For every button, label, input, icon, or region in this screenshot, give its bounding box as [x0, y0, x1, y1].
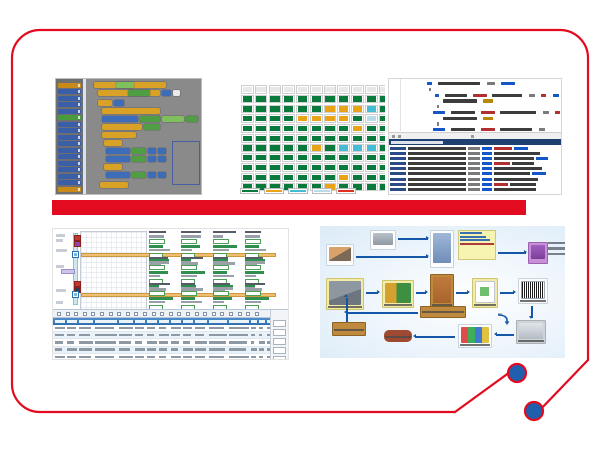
- status-cell-r9-c3[interactable]: [282, 173, 295, 182]
- table-column-header-15[interactable]: [259, 320, 265, 323]
- block-group-1-header[interactable]: [104, 140, 122, 146]
- schedule-marker-2[interactable]: [74, 241, 81, 247]
- status-cell-r8-c10[interactable]: [379, 163, 385, 172]
- status-cell-r2-c3[interactable]: [282, 105, 295, 114]
- table-side-button-3[interactable]: [273, 338, 286, 345]
- block-logic-1[interactable]: [162, 116, 184, 122]
- status-cell-r9-c2[interactable]: [269, 173, 282, 182]
- log-token: [468, 172, 480, 175]
- status-cell-r3-c5[interactable]: [310, 114, 323, 123]
- log-row-7[interactable]: [390, 178, 561, 181]
- status-cell-r4-c1[interactable]: [255, 124, 268, 133]
- block-footer[interactable]: [100, 182, 128, 188]
- status-cell-fill: [256, 106, 265, 111]
- status-cell-fill: [298, 126, 307, 131]
- status-cell-r3-c9[interactable]: [365, 114, 378, 123]
- status-cell-r9-c9[interactable]: [365, 173, 378, 182]
- status-cell-r7-c6[interactable]: [324, 153, 337, 162]
- table-cell: [55, 348, 62, 351]
- table-row[interactable]: [53, 325, 288, 332]
- status-cell-fill: [256, 175, 265, 180]
- schedule-tag-1[interactable]: [61, 269, 75, 274]
- status-cell-r7-c5[interactable]: [310, 153, 323, 162]
- schedule-node-2[interactable]: [72, 291, 79, 298]
- status-cell-r5-c6[interactable]: [324, 134, 337, 143]
- log-row-2[interactable]: [390, 152, 561, 155]
- block-value-6[interactable]: [158, 172, 166, 178]
- status-cell-r7-c10[interactable]: [379, 153, 385, 162]
- status-cell-r8-c9[interactable]: [365, 163, 378, 172]
- status-cell-r3-c7[interactable]: [337, 114, 350, 123]
- table-toolbar-button-12[interactable]: [152, 312, 156, 316]
- status-cell-r1-c1[interactable]: [255, 95, 268, 104]
- status-cell-r0-c0[interactable]: [241, 85, 254, 94]
- data-table-sidebar[interactable]: [270, 310, 288, 359]
- table-column-header-8[interactable]: [159, 320, 169, 323]
- block-statement-4[interactable]: [102, 132, 136, 138]
- flow-node-unloading[interactable]: [382, 280, 414, 308]
- block-getter-2[interactable]: [186, 116, 198, 122]
- status-cell-r6-c5[interactable]: [310, 144, 323, 153]
- code-line-3[interactable]: [393, 94, 559, 97]
- status-grid-panel[interactable]: [240, 84, 385, 194]
- log-token: [482, 147, 492, 150]
- status-cell-r1-c5[interactable]: [310, 95, 323, 104]
- block-value-1[interactable]: [148, 148, 156, 154]
- log-token: [408, 167, 466, 170]
- flow-node-nonconforming-zone[interactable]: [420, 306, 466, 318]
- table-cell: [159, 341, 168, 344]
- table-toolbar-button-13[interactable]: [160, 312, 164, 316]
- palette-block-15[interactable]: [58, 174, 81, 179]
- table-side-button-1[interactable]: [273, 320, 286, 327]
- flow-node-operator[interactable]: [326, 244, 354, 266]
- block-call-1-value[interactable]: [162, 90, 171, 96]
- table-toolbar-button-2[interactable]: [66, 312, 70, 316]
- palette-block-17[interactable]: [58, 187, 81, 192]
- palette-block-14[interactable]: [58, 167, 81, 172]
- code-line-5[interactable]: [393, 105, 559, 108]
- palette-block-11[interactable]: [58, 148, 81, 153]
- table-row[interactable]: [53, 354, 288, 360]
- status-cell-r8-c0[interactable]: [241, 163, 254, 172]
- status-cell-r8-c4[interactable]: [296, 163, 309, 172]
- log-token: [408, 172, 466, 175]
- status-cell-r0-c8[interactable]: [351, 85, 364, 94]
- table-column-header-9[interactable]: [171, 320, 181, 323]
- table-side-button-2[interactable]: [273, 329, 286, 336]
- status-cell-r7-c7[interactable]: [337, 153, 350, 162]
- palette-block-2[interactable]: [58, 89, 81, 94]
- log-row-8[interactable]: [390, 183, 561, 186]
- status-cell-fill: [380, 155, 385, 160]
- status-cell-r0-c3[interactable]: [282, 85, 295, 94]
- log-token: [390, 162, 406, 165]
- status-cell-r7-c2[interactable]: [269, 153, 282, 162]
- status-cell-r6-c1[interactable]: [255, 144, 268, 153]
- status-cell-r4-c7[interactable]: [337, 124, 350, 133]
- log-output-list[interactable]: [389, 146, 561, 194]
- table-column-header-14[interactable]: [251, 320, 257, 323]
- status-cell-r9-c1[interactable]: [255, 173, 268, 182]
- log-row-6[interactable]: [390, 172, 561, 175]
- table-toolbar-button-18[interactable]: [203, 312, 207, 316]
- status-cell-r1-c9[interactable]: [365, 95, 378, 104]
- status-cell-r2-c8[interactable]: [351, 105, 364, 114]
- status-cell-r0-c5[interactable]: [310, 85, 323, 94]
- block-call-1-text[interactable]: [173, 90, 180, 96]
- status-cell-r6-c9[interactable]: [365, 144, 378, 153]
- table-toolbar-button-20[interactable]: [220, 312, 224, 316]
- status-cell-r4-c4[interactable]: [296, 124, 309, 133]
- table-toolbar-button-6[interactable]: [100, 312, 104, 316]
- flow-node-quality-inspection[interactable]: [472, 278, 498, 308]
- status-cell-r4-c0[interactable]: [241, 124, 254, 133]
- table-toolbar-button-4[interactable]: [83, 312, 87, 316]
- status-cell-r4-c9[interactable]: [365, 124, 378, 133]
- status-cell-r3-c6[interactable]: [324, 114, 337, 123]
- toolbar-button-1[interactable]: [392, 135, 395, 138]
- table-toolbar-button-7[interactable]: [109, 312, 113, 316]
- block-value-4[interactable]: [158, 156, 166, 162]
- table-toolbar-button-10[interactable]: [134, 312, 138, 316]
- log-window-header[interactable]: [389, 139, 561, 145]
- status-cell-r5-c0[interactable]: [241, 134, 254, 143]
- data-table[interactable]: [53, 309, 288, 359]
- code-line-2[interactable]: [393, 88, 559, 91]
- status-cell-r9-c5[interactable]: [310, 173, 323, 182]
- status-cell-r1-c4[interactable]: [296, 95, 309, 104]
- table-toolbar-button-11[interactable]: [143, 312, 147, 316]
- status-cell-fill: [380, 184, 385, 189]
- block-getter-5[interactable]: [132, 156, 146, 162]
- status-cell-r0-c2[interactable]: [269, 85, 282, 94]
- status-cell-fill: [312, 136, 321, 141]
- status-cell-r4-c5[interactable]: [310, 124, 323, 133]
- block-call-1-arg[interactable]: [128, 90, 150, 96]
- log-token: [494, 152, 540, 155]
- status-cell-r3-c1[interactable]: [255, 114, 268, 123]
- log-row-5[interactable]: [390, 167, 561, 170]
- status-cell-r5-c3[interactable]: [282, 134, 295, 143]
- status-cell-fill: [312, 87, 321, 92]
- status-cell-r8-c2[interactable]: [269, 163, 282, 172]
- status-cell-r0-c6[interactable]: [324, 85, 337, 94]
- status-cell-r4-c3[interactable]: [282, 124, 295, 133]
- flow-node-label-scan[interactable]: [516, 320, 546, 344]
- status-cell-r5-c1[interactable]: [255, 134, 268, 143]
- status-cell-r9-c8[interactable]: [351, 173, 364, 182]
- table-toolbar-button-14[interactable]: [169, 312, 173, 316]
- status-cell-r5-c7[interactable]: [337, 134, 350, 143]
- note-line-1: [460, 232, 482, 234]
- table-column-header-4[interactable]: [95, 320, 117, 323]
- table-toolbar-button-1[interactable]: [57, 312, 61, 316]
- status-cell-r5-c2[interactable]: [269, 134, 282, 143]
- flow-node-system-terminal[interactable]: [430, 230, 454, 268]
- palette-block-3[interactable]: [58, 96, 81, 101]
- equipment-icon: [373, 233, 393, 245]
- block-group-2-header[interactable]: [104, 164, 122, 170]
- status-cell-r9-c6[interactable]: [324, 173, 337, 182]
- status-cell-r3-c3[interactable]: [282, 114, 295, 123]
- code-line-4[interactable]: [393, 99, 559, 102]
- block-statement-2[interactable]: [102, 108, 160, 114]
- log-row-4[interactable]: [390, 162, 561, 165]
- status-cell-r4-c10[interactable]: [379, 124, 385, 133]
- status-cell-r6-c3[interactable]: [282, 144, 295, 153]
- table-cell: [55, 341, 63, 344]
- status-cell-r8-c7[interactable]: [337, 163, 350, 172]
- status-cell-r7-c8[interactable]: [351, 153, 364, 162]
- log-row-3[interactable]: [390, 157, 561, 160]
- table-toolbar-button-22[interactable]: [238, 312, 242, 316]
- status-cell-fill: [367, 116, 376, 121]
- table-cell: [171, 356, 181, 359]
- table-toolbar-button-17[interactable]: [195, 312, 199, 316]
- log-token: [494, 167, 542, 170]
- status-cell-r9-c4[interactable]: [296, 173, 309, 182]
- table-toolbar-button-5[interactable]: [91, 312, 95, 316]
- table-toolbar-button-24[interactable]: [255, 312, 259, 316]
- status-cell-r4-c8[interactable]: [351, 124, 364, 133]
- table-toolbar-button-23[interactable]: [246, 312, 250, 316]
- palette-block-6[interactable]: [58, 115, 81, 120]
- status-cell-r0-c9[interactable]: [365, 85, 378, 94]
- status-cell-r5-c4[interactable]: [296, 134, 309, 143]
- blocks-editor-panel[interactable]: [55, 78, 202, 195]
- status-cell-r6-c2[interactable]: [269, 144, 282, 153]
- status-cell-r0-c7[interactable]: [337, 85, 350, 94]
- flow-node-nonconforming-store[interactable]: [332, 322, 366, 336]
- flow-side-tag-2: [548, 247, 565, 249]
- block-setter-4[interactable]: [106, 172, 130, 178]
- flow-node-inbound-complete[interactable]: [384, 330, 412, 342]
- status-cell-r3-c8[interactable]: [351, 114, 364, 123]
- status-cell-r6-c6[interactable]: [324, 144, 337, 153]
- toolbar-button-2[interactable]: [398, 135, 401, 138]
- logistics-flowchart-panel[interactable]: NG: [320, 226, 565, 358]
- table-column-header-1[interactable]: [55, 320, 65, 323]
- log-token: [408, 178, 466, 181]
- table-column-header-10[interactable]: [183, 320, 193, 323]
- status-cell-fill: [339, 136, 348, 141]
- blocks-palette[interactable]: [56, 79, 83, 194]
- status-cell-r5-c8[interactable]: [351, 134, 364, 143]
- status-cell-r1-c10[interactable]: [379, 95, 385, 104]
- palette-block-4[interactable]: [58, 102, 81, 107]
- table-side-button-5[interactable]: [273, 356, 286, 360]
- table-side-button-4[interactable]: [273, 347, 286, 354]
- block-control-if[interactable]: [98, 100, 112, 106]
- status-cell-r9-c10[interactable]: [379, 173, 385, 182]
- status-grid[interactable]: [241, 85, 385, 191]
- status-cell-r4-c2[interactable]: [269, 124, 282, 133]
- status-cell-r5-c9[interactable]: [365, 134, 378, 143]
- palette-block-1[interactable]: [58, 83, 81, 88]
- log-token: [468, 152, 480, 155]
- toolbar-button-3[interactable]: [471, 135, 474, 138]
- status-cell-r0-c1[interactable]: [255, 85, 268, 94]
- status-cell-r0-c10[interactable]: [379, 85, 385, 94]
- palette-block-16[interactable]: [58, 180, 81, 185]
- code-line-8[interactable]: [393, 122, 559, 125]
- block-value-5[interactable]: [148, 172, 156, 178]
- flow-node-equipment[interactable]: [370, 230, 396, 250]
- block-getter-6[interactable]: [132, 172, 146, 178]
- status-cell-r5-c10[interactable]: [379, 134, 385, 143]
- palette-block-10[interactable]: [58, 141, 81, 146]
- table-row[interactable]: [53, 347, 288, 354]
- status-cell-r1-c0[interactable]: [241, 95, 254, 104]
- table-toolbar-button-9[interactable]: [126, 312, 130, 316]
- status-cell-r7-c1[interactable]: [255, 153, 268, 162]
- table-toolbar-button-19[interactable]: [212, 312, 216, 316]
- data-table-toolbar[interactable]: [53, 310, 288, 318]
- table-cell: [259, 327, 263, 330]
- status-cell-r6-c7[interactable]: [337, 144, 350, 153]
- status-cell-r6-c10[interactable]: [379, 144, 385, 153]
- textblock-line: [213, 249, 229, 251]
- status-cell-r2-c5[interactable]: [310, 105, 323, 114]
- status-cell-r2-c10[interactable]: [379, 105, 385, 114]
- status-cell-r3-c0[interactable]: [241, 114, 254, 123]
- code-token-if: [435, 94, 439, 97]
- status-cell-r1-c7[interactable]: [337, 95, 350, 104]
- block-getter-4[interactable]: [132, 148, 146, 154]
- table-row[interactable]: [53, 332, 288, 339]
- status-cell-r4-c6[interactable]: [324, 124, 337, 133]
- status-cell-r2-c7[interactable]: [337, 105, 350, 114]
- status-cell-r2-c0[interactable]: [241, 105, 254, 114]
- table-column-header-3[interactable]: [79, 320, 93, 323]
- block-setter-3[interactable]: [106, 156, 130, 162]
- status-cell-r9-c0[interactable]: [241, 173, 254, 182]
- blocks-canvas[interactable]: [86, 79, 201, 194]
- table-toolbar-button-8[interactable]: [117, 312, 121, 316]
- table-cell: [209, 327, 224, 330]
- status-cell-r8-c1[interactable]: [255, 163, 268, 172]
- schedule-grid[interactable]: [80, 231, 147, 311]
- block-setter-2[interactable]: [106, 148, 130, 154]
- status-cell-r1-c3[interactable]: [282, 95, 295, 104]
- status-cell-r9-c7[interactable]: [337, 173, 350, 182]
- flow-node-barcode-print[interactable]: [518, 278, 548, 304]
- table-column-header-6[interactable]: [135, 320, 145, 323]
- flow-node-archive[interactable]: [528, 242, 548, 264]
- block-getter-3[interactable]: [144, 124, 160, 130]
- status-cell-r1-c6[interactable]: [324, 95, 337, 104]
- code-token-char2: [555, 111, 560, 114]
- table-cell: [55, 327, 65, 330]
- block-setter-1[interactable]: [102, 116, 138, 122]
- block-event-badge[interactable]: [116, 82, 134, 88]
- table-column-header-5[interactable]: [119, 320, 133, 323]
- log-token: [532, 172, 546, 175]
- flow-ng-curve: [496, 314, 512, 326]
- status-cell-r3-c4[interactable]: [296, 114, 309, 123]
- table-toolbar-button-16[interactable]: [186, 312, 190, 316]
- palette-block-8[interactable]: [58, 128, 81, 133]
- table-toolbar-button-3[interactable]: [74, 312, 78, 316]
- code-line-6[interactable]: [393, 111, 559, 114]
- palette-block-9[interactable]: [58, 135, 81, 140]
- status-cell-r7-c0[interactable]: [241, 153, 254, 162]
- log-token: [390, 152, 406, 155]
- status-cell-r7-c3[interactable]: [282, 153, 295, 162]
- status-cell-r2-c4[interactable]: [296, 105, 309, 114]
- status-cell-r8-c6[interactable]: [324, 163, 337, 172]
- code-line-9[interactable]: [393, 128, 559, 131]
- status-cell-r7-c4[interactable]: [296, 153, 309, 162]
- log-row-1[interactable]: [390, 147, 561, 150]
- status-cell-r10-c9[interactable]: [365, 183, 378, 192]
- data-table-header-row[interactable]: [53, 318, 288, 325]
- table-cell: [67, 348, 77, 351]
- schedule-legend-5: [56, 289, 66, 292]
- table-column-header-2[interactable]: [67, 320, 77, 323]
- block-control-cond[interactable]: [114, 100, 124, 106]
- status-cell-r2-c2[interactable]: [269, 105, 282, 114]
- schedule-table-panel[interactable]: [52, 228, 289, 360]
- table-column-header-13[interactable]: [229, 320, 249, 323]
- code-editor[interactable]: [389, 79, 561, 131]
- status-cell-r8-c5[interactable]: [310, 163, 323, 172]
- log-row-9[interactable]: [390, 188, 561, 191]
- status-cell-r1-c8[interactable]: [351, 95, 364, 104]
- table-toolbar-button-15[interactable]: [177, 312, 181, 316]
- status-cell-r6-c0[interactable]: [241, 144, 254, 153]
- data-table-body[interactable]: [53, 325, 288, 360]
- block-value-3[interactable]: [148, 156, 156, 162]
- status-cell-r8-c3[interactable]: [282, 163, 295, 172]
- status-cell-r3-c10[interactable]: [379, 114, 385, 123]
- code-console-panel[interactable]: [388, 78, 562, 195]
- status-cell-r6-c4[interactable]: [296, 144, 309, 153]
- schedule-node-1[interactable]: [72, 251, 79, 258]
- status-cell-r8-c8[interactable]: [351, 163, 364, 172]
- block-statement-3[interactable]: [102, 124, 142, 130]
- table-toolbar-button-21[interactable]: [229, 312, 233, 316]
- table-column-header-12[interactable]: [209, 320, 227, 323]
- palette-block-12[interactable]: [58, 154, 81, 159]
- flow-node-shelving[interactable]: [458, 324, 492, 348]
- code-line-1[interactable]: [393, 82, 559, 85]
- status-cell-r5-c5[interactable]: [310, 134, 323, 143]
- flow-node-receiving-area[interactable]: [430, 274, 454, 308]
- code-line-7[interactable]: [393, 117, 559, 120]
- block-getter-1[interactable]: [140, 116, 160, 122]
- status-cell-r3-c2[interactable]: [269, 114, 282, 123]
- table-column-header-7[interactable]: [147, 320, 157, 323]
- table-column-header-11[interactable]: [195, 320, 207, 323]
- status-cell-r2-c6[interactable]: [324, 105, 337, 114]
- note-line-2: [460, 236, 486, 238]
- status-cell-r2-c1[interactable]: [255, 105, 268, 114]
- status-cell-r2-c9[interactable]: [365, 105, 378, 114]
- palette-block-13[interactable]: [58, 161, 81, 166]
- status-cell-r7-c9[interactable]: [365, 153, 378, 162]
- textblock-line: [181, 265, 197, 270]
- block-value-2[interactable]: [158, 148, 166, 154]
- palette-block-5[interactable]: [58, 109, 81, 114]
- status-cell-r1-c2[interactable]: [269, 95, 282, 104]
- status-cell-r0-c4[interactable]: [296, 85, 309, 94]
- status-cell-r6-c8[interactable]: [351, 144, 364, 153]
- palette-block-7[interactable]: [58, 122, 81, 127]
- status-cell-r10-c10[interactable]: [379, 183, 385, 192]
- table-row[interactable]: [53, 339, 288, 346]
